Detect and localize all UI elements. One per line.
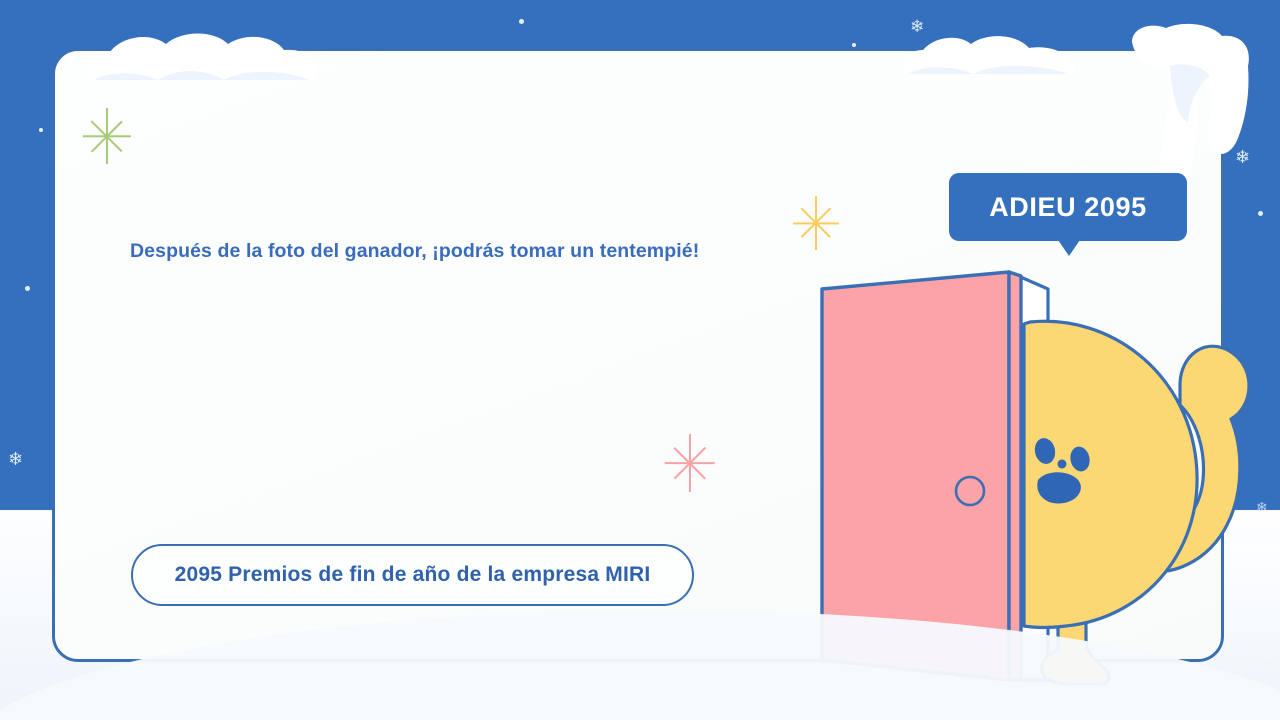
snow-dot-1 [519, 19, 524, 24]
snow-dot-4 [25, 286, 30, 291]
pill-label: 2095 Premios de fin de año de la empresa… [175, 563, 651, 587]
snow-dot-2 [852, 43, 856, 47]
year-awards-pill-button[interactable]: 2095 Premios de fin de año de la empresa… [131, 544, 694, 606]
snow-cap-icon [78, 26, 328, 86]
sparkle-pink-icon [661, 434, 719, 492]
snow-cap-mid-icon [897, 28, 1087, 80]
speech-bubble-tail-icon [1058, 240, 1080, 256]
snow-dot-5 [39, 128, 43, 132]
speech-bubble-text: ADIEU 2095 [989, 192, 1147, 223]
sparkle-green-icon [79, 108, 135, 164]
illustration-canvas: ❄ ❄ ❄ ❄ Después de la foto del ganador, … [0, 0, 1280, 720]
sparkle-yellow-icon [789, 196, 843, 250]
snow-dot-3 [1258, 211, 1263, 216]
speech-bubble: ADIEU 2095 [949, 173, 1187, 241]
headline-text: Después de la foto del ganador, ¡podrás … [130, 240, 699, 263]
snowflake-left: ❄ [8, 450, 23, 468]
snowflake-far-right: ❄ [1256, 500, 1268, 514]
